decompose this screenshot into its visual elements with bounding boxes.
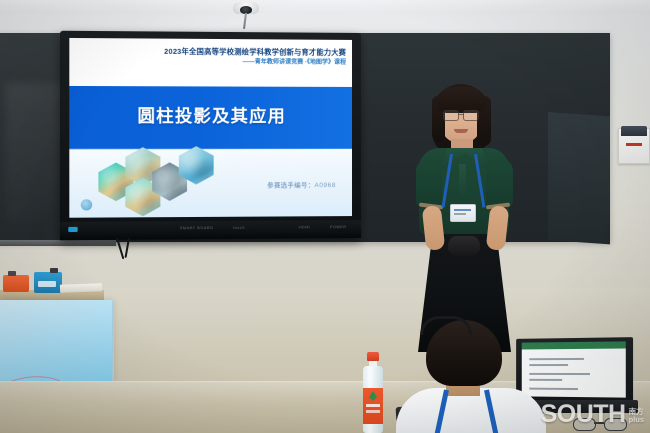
bottle-label-text-1 bbox=[366, 404, 380, 407]
bottle-cap bbox=[367, 352, 379, 361]
shelf-paper-stack bbox=[60, 283, 102, 292]
smart-board-display[interactable]: 2023年全国高等学校测绘学科教学创新与育才能力大赛 ——青年教师讲课竞赛 ·《… bbox=[60, 31, 361, 241]
dome-camera-icon bbox=[233, 2, 259, 16]
blackboard-right-section bbox=[548, 112, 610, 244]
water-bottle bbox=[362, 352, 384, 433]
presenter-glasses-icon bbox=[443, 110, 479, 119]
presenter-id-badge bbox=[450, 204, 476, 222]
chalk-tray bbox=[0, 240, 116, 246]
bottle-label bbox=[363, 388, 383, 424]
bottle-neck bbox=[369, 360, 377, 367]
hexagon-map-cluster bbox=[98, 144, 211, 207]
blue-box-cap bbox=[50, 268, 58, 273]
participant-code: 参赛选手编号：A0968 bbox=[267, 180, 336, 189]
presentation-slide: 2023年全国高等学校测绘学科教学创新与育才能力大赛 ——青年教师讲课竞赛 ·《… bbox=[69, 38, 352, 218]
seated-attendee bbox=[400, 320, 550, 433]
shelf-orange-box bbox=[3, 275, 29, 292]
blue-box-label bbox=[38, 281, 56, 287]
presenter-hands-holding-remote bbox=[448, 236, 480, 256]
power-led-icon bbox=[68, 227, 77, 232]
watermark-cn-line-2: plus bbox=[629, 416, 644, 425]
watermark-brand: SOUTH bbox=[541, 403, 626, 427]
slide-header: 2023年全国高等学校测绘学科教学创新与育才能力大赛 ——青年教师讲课竞赛 ·《… bbox=[69, 46, 346, 67]
wall-panel-lid bbox=[621, 126, 647, 136]
bottle-leaf-icon bbox=[369, 391, 377, 401]
badge-line-1 bbox=[454, 209, 471, 211]
slide-title: 圆柱投影及其应用 bbox=[69, 101, 352, 127]
wall-panel-label bbox=[626, 143, 642, 146]
glasses-lens-left bbox=[443, 110, 459, 121]
participant-code-value: A0968 bbox=[314, 182, 336, 189]
watermark: SOUTH 南方 plus bbox=[541, 403, 644, 427]
bezel-label-hdmi: HDMI bbox=[299, 225, 311, 229]
presenter-mouth bbox=[454, 129, 468, 133]
display-screen[interactable]: 2023年全国高等学校测绘学科教学创新与育才能力大赛 ——青年教师讲课竞赛 ·《… bbox=[69, 38, 352, 218]
participant-code-label: 参赛选手编号： bbox=[267, 182, 314, 189]
display-bezel-bottom: SMART BOARD touch HDMI POWER bbox=[60, 220, 361, 240]
badge-line-2 bbox=[454, 213, 466, 215]
orange-box-cap bbox=[8, 271, 16, 276]
slide-header-line-1: 2023年全国高等学校测绘学科教学创新与育才能力大赛 bbox=[69, 46, 346, 57]
glasses-lens-right bbox=[463, 110, 479, 121]
wall-control-panel[interactable] bbox=[618, 128, 650, 164]
shelf-blue-box bbox=[34, 272, 62, 293]
bezel-label-touch: touch bbox=[233, 226, 245, 230]
watermark-chinese: 南方 plus bbox=[629, 408, 644, 427]
presenter-shirt-placket bbox=[459, 164, 466, 198]
presenter-arm-right bbox=[486, 205, 509, 251]
attendee-headset-icon bbox=[420, 316, 472, 335]
bezel-label-power: POWER bbox=[330, 225, 347, 229]
screenshot-root: 2023年全国高等学校测绘学科教学创新与育才能力大赛 ——青年教师讲课竞赛 ·《… bbox=[0, 0, 650, 433]
bottle-label-text-2 bbox=[366, 410, 380, 413]
slide-globe-logo-icon bbox=[81, 199, 92, 210]
ceiling-strip bbox=[0, 0, 650, 13]
bezel-label-model: SMART BOARD bbox=[180, 226, 214, 230]
slide-header-line-2: ——青年教师讲课竞赛 ·《地图学》课程 bbox=[69, 58, 346, 67]
